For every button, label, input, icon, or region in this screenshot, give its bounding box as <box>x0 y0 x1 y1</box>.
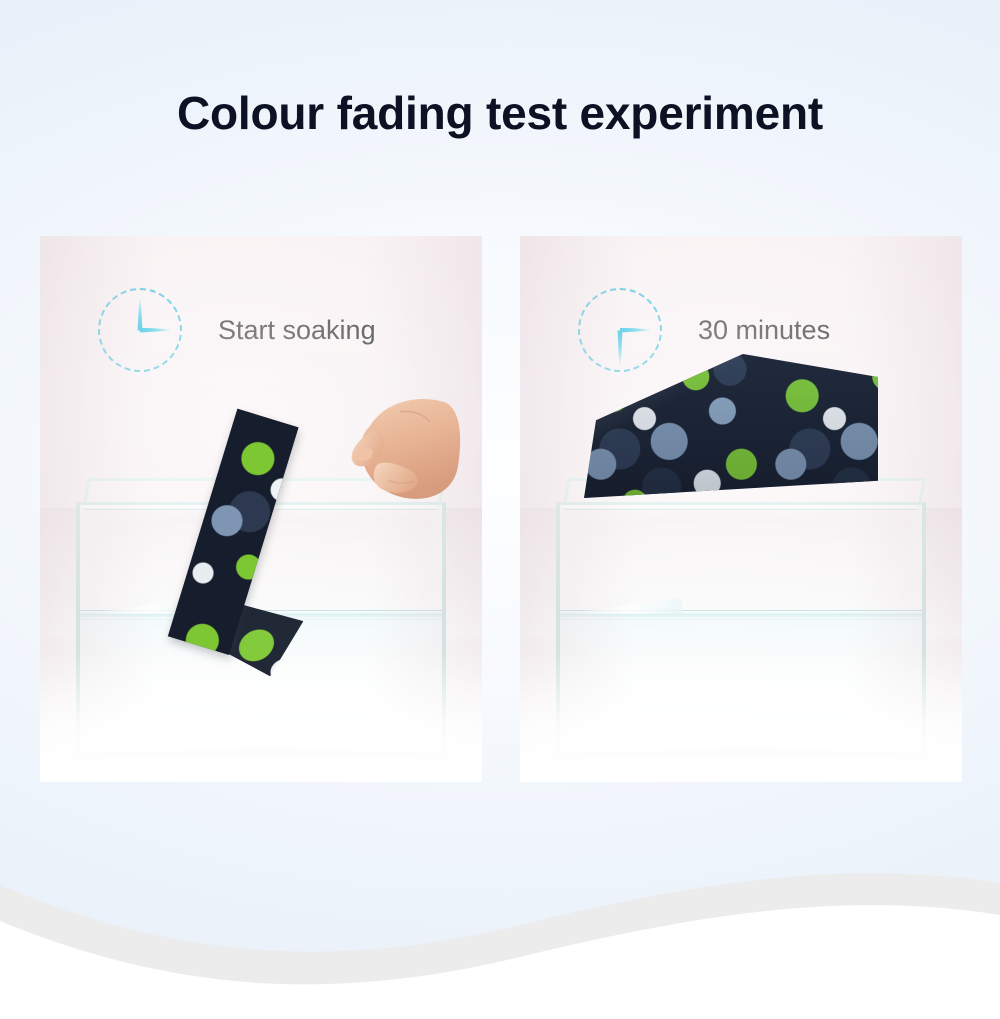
wave-divider <box>0 839 1000 1019</box>
clock-hand-minute <box>140 328 170 333</box>
glass-tank <box>556 502 926 756</box>
clock-hand-hour <box>618 330 623 364</box>
stage-badge-start-soaking: Start soaking <box>98 288 376 372</box>
clock-icon <box>578 288 662 372</box>
cloth-sheet-soaked <box>578 354 878 498</box>
clock-hand-hour <box>138 299 143 330</box>
experiment-panel-start-soaking: Start soaking <box>40 236 482 782</box>
stage-badge-thirty-minutes: 30 minutes <box>578 288 830 372</box>
experiment-panel-thirty-minutes: 30 minutes <box>520 236 962 782</box>
stage-label-thirty-minutes: 30 minutes <box>698 315 830 346</box>
clock-hand-minute <box>620 328 650 333</box>
tank-back-edge <box>564 509 918 510</box>
tank-shadow <box>86 748 452 770</box>
page-title: Colour fading test experiment <box>0 86 1000 140</box>
hand-icon <box>326 396 462 502</box>
product-detail-page: Colour fading test experiment Start soak… <box>0 0 1000 1019</box>
tank-water <box>560 614 922 752</box>
clock-icon <box>98 288 182 372</box>
stage-label-start-soaking: Start soaking <box>218 315 376 346</box>
tank-shadow <box>566 748 932 770</box>
